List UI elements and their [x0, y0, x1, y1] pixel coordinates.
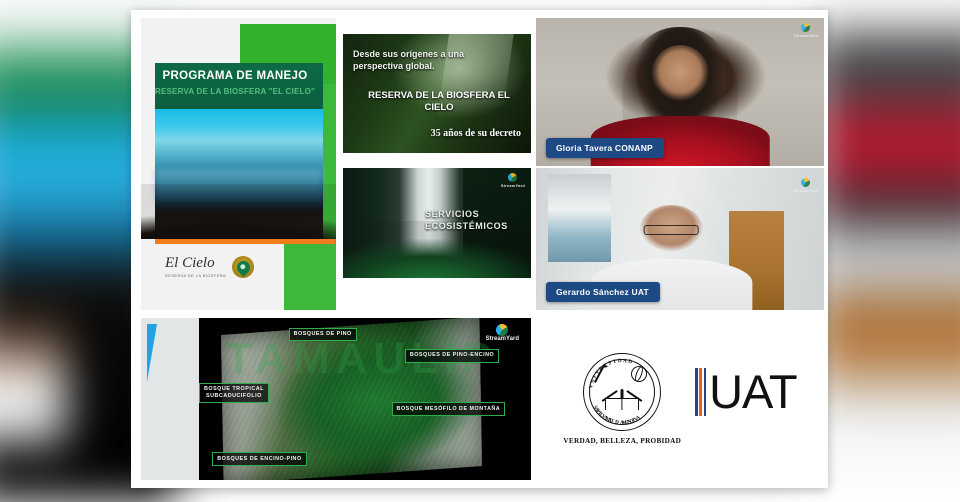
el-cielo-logo-name: El Cielo	[165, 256, 226, 271]
map-satellite-image: TAMAULIPAS BOSQUES DE PINO BOSQUES DE PI…	[199, 318, 531, 480]
streamyard-powered-by: Powered by	[796, 173, 815, 177]
streamyard-label: StreamYard	[794, 33, 818, 38]
el-cielo-badge-icon	[232, 256, 254, 278]
slide-origins[interactable]: Desde sus orígenes a una perspectiva glo…	[343, 34, 531, 153]
slide-cover[interactable]: PROGRAMA DE MANEJO RESERVA DE LA BIOSFER…	[141, 18, 336, 310]
map-label-tropical-subcaducifolio: BOSQUE TROPICAL SUBCADUCIFOLIO	[199, 383, 269, 404]
participant-face-1	[651, 45, 709, 104]
uat-motto: VERDAD, BELLEZA, PROBIDAD	[563, 437, 681, 445]
streamyard-watermark-map: StreamYard	[486, 324, 519, 342]
el-cielo-logo-sub: RESERVA DE LA BIOSFERA	[165, 273, 226, 278]
presentation-card: PROGRAMA DE MANEJO RESERVA DE LA BIOSFER…	[131, 10, 828, 488]
streamyard-icon	[801, 23, 810, 32]
seal-circular-text: VNIVERSIDADAVTONOMA D TAMAVLIPAS	[584, 354, 660, 430]
uat-wordmark: UAT	[695, 367, 796, 417]
streamyard-icon	[508, 173, 517, 182]
map-label-mesofilo-montana: BOSQUE MESÓFILO DE MONTAÑA	[392, 402, 506, 416]
slide-ecosystem-services[interactable]: SERVICIOS ECOSISTÉMICOS StreamYard	[343, 168, 531, 278]
cover-title: PROGRAMA DE MANEJO	[155, 70, 315, 83]
uat-bars-icon	[695, 367, 706, 417]
participant-name-banner-1: Gloria Tavera CONANP	[546, 138, 664, 158]
slide-origins-heading: Desde sus orígenes a una perspectiva glo…	[353, 48, 483, 72]
streamyard-icon	[496, 324, 508, 336]
streamyard-label: StreamYard	[501, 183, 525, 188]
streamyard-icon	[801, 178, 810, 187]
map-label-pino-encino: BOSQUES DE PINO-ENCINO	[405, 349, 499, 363]
el-cielo-logo: El Cielo RESERVA DE LA BIOSFERA	[165, 256, 254, 278]
uat-branding: VNIVERSIDADAVTONOMA D TAMAVLIPAS VERDAD,…	[536, 318, 824, 480]
participant-glasses-2	[644, 225, 699, 235]
cover-title-band: PROGRAMA DE MANEJO RESERVA DE LA BIOSFER…	[155, 63, 323, 109]
screenshot-stage: PROGRAMA DE MANEJO RESERVA DE LA BIOSFER…	[0, 0, 960, 502]
video-tile-gloria[interactable]: StreamYard Gloria Tavera CONANP	[536, 18, 824, 166]
uat-wordmark-text: UAT	[709, 373, 797, 411]
uat-seal-column: VNIVERSIDADAVTONOMA D TAMAVLIPAS VERDAD,…	[563, 353, 681, 445]
map-label-pino: BOSQUES DE PINO	[289, 328, 357, 342]
streamyard-label: StreamYard	[486, 336, 519, 342]
uat-seal-icon: VNIVERSIDADAVTONOMA D TAMAVLIPAS	[583, 353, 661, 431]
room-window	[548, 174, 611, 262]
slide-services-caption: SERVICIOS ECOSISTÉMICOS	[425, 208, 521, 232]
slide-origins-title: RESERVA DE LA BIOSFERA EL CIELO	[361, 90, 517, 115]
slide-origins-years: 35 años de su decreto	[431, 128, 521, 139]
map-slide-sidebar	[141, 318, 199, 480]
cover-mountain-photo	[155, 109, 323, 239]
cover-orange-rule	[155, 239, 335, 244]
participant-name-banner-2: Gerardo Sánchez UAT	[546, 282, 660, 302]
streamyard-watermark: StreamYard	[501, 173, 525, 188]
cover-subtitle: RESERVA DE LA BIOSFERA "EL CIELO"	[155, 87, 315, 96]
map-label-encino-pino: BOSQUES DE ENCINO-PINO	[212, 452, 306, 466]
streamyard-watermark-video-1: StreamYard	[794, 23, 818, 38]
video-tile-gerardo[interactable]: Powered by StreamYard Gerardo Sánchez UA…	[536, 168, 824, 310]
slide-vegetation-map[interactable]: TAMAULIPAS BOSQUES DE PINO BOSQUES DE PI…	[141, 318, 531, 480]
streamyard-watermark-video-2: Powered by StreamYard	[794, 173, 818, 193]
streamyard-label: StreamYard	[794, 188, 818, 193]
